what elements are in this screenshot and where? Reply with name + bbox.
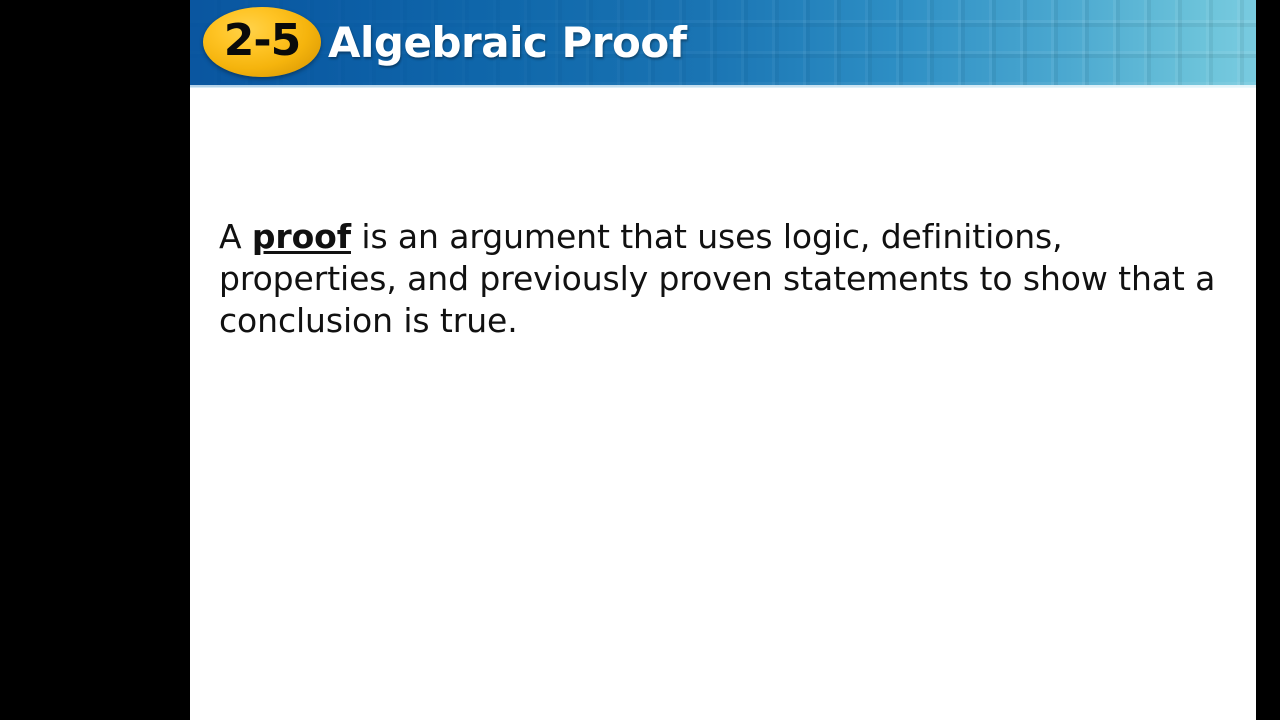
lesson-number-label: 2-5	[224, 19, 301, 63]
presentation-slide: 2-5 Algebraic Proof A proof is an argume…	[190, 0, 1256, 720]
slide-body-content: A proof is an argument that uses logic, …	[219, 216, 1219, 342]
slide-header-band: 2-5 Algebraic Proof	[190, 0, 1256, 87]
letterbox-bar-right	[1256, 0, 1280, 720]
slide-title: Algebraic Proof	[328, 15, 686, 71]
paragraph-lead-text: A	[219, 217, 252, 256]
defined-term: proof	[252, 217, 351, 256]
letterbox-bar-left	[0, 0, 190, 720]
slide-viewer: 2-5 Algebraic Proof A proof is an argume…	[0, 0, 1280, 720]
header-underline-divider	[190, 85, 1256, 88]
paragraph-rest-text: is an argument that uses logic, definiti…	[219, 217, 1215, 340]
lesson-number-badge: 2-5	[203, 7, 321, 77]
definition-paragraph: A proof is an argument that uses logic, …	[219, 216, 1219, 342]
